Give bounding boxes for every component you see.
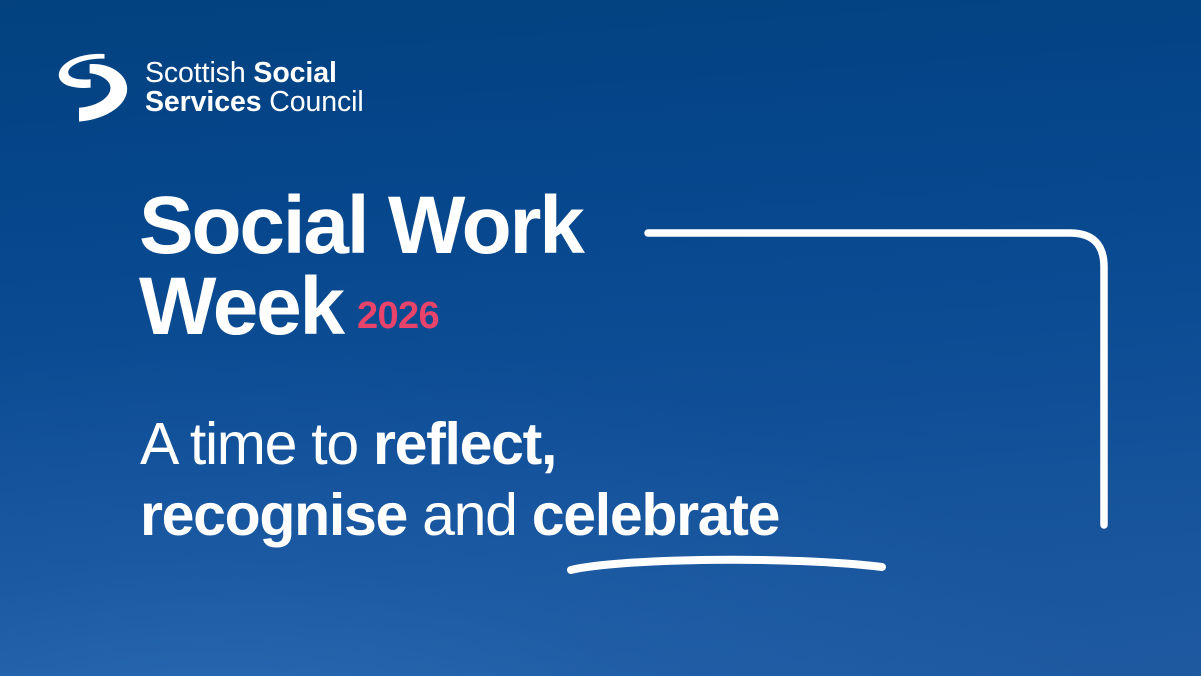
- headline-week: Week: [139, 261, 343, 352]
- page-title: Social Work Week2026: [139, 186, 583, 348]
- tagline-recognise: recognise: [140, 482, 407, 548]
- hand-drawn-underline: [552, 540, 902, 588]
- logo-council: Council: [269, 86, 363, 118]
- headline-line-1: Social Work: [139, 186, 583, 267]
- logo-scottish: Scottish: [145, 57, 253, 89]
- tagline-and: and: [407, 482, 532, 548]
- ssc-swoosh-logo-icon: [57, 52, 133, 124]
- tagline-celebrate: celebrate: [532, 482, 779, 548]
- tagline-a-time-to: A time to: [140, 411, 373, 477]
- headline-year: 2026: [357, 295, 439, 337]
- social-work-week-banner: Scottish Social Services Council Social …: [0, 0, 1201, 676]
- ssc-logo-wordmark: Scottish Social Services Council: [145, 59, 364, 117]
- tagline-reflect: reflect,: [373, 411, 556, 477]
- tagline-line-1: A time to reflect,: [140, 409, 779, 480]
- ssc-logo: Scottish Social Services Council: [57, 52, 364, 124]
- headline-line-2: Week2026: [139, 267, 583, 348]
- logo-line-2: Services Council: [145, 88, 364, 117]
- tagline: A time to reflect, recognise and celebra…: [140, 409, 779, 552]
- logo-line-1: Scottish Social: [145, 59, 364, 88]
- logo-social: Social: [253, 57, 336, 89]
- logo-services: Services: [145, 86, 269, 118]
